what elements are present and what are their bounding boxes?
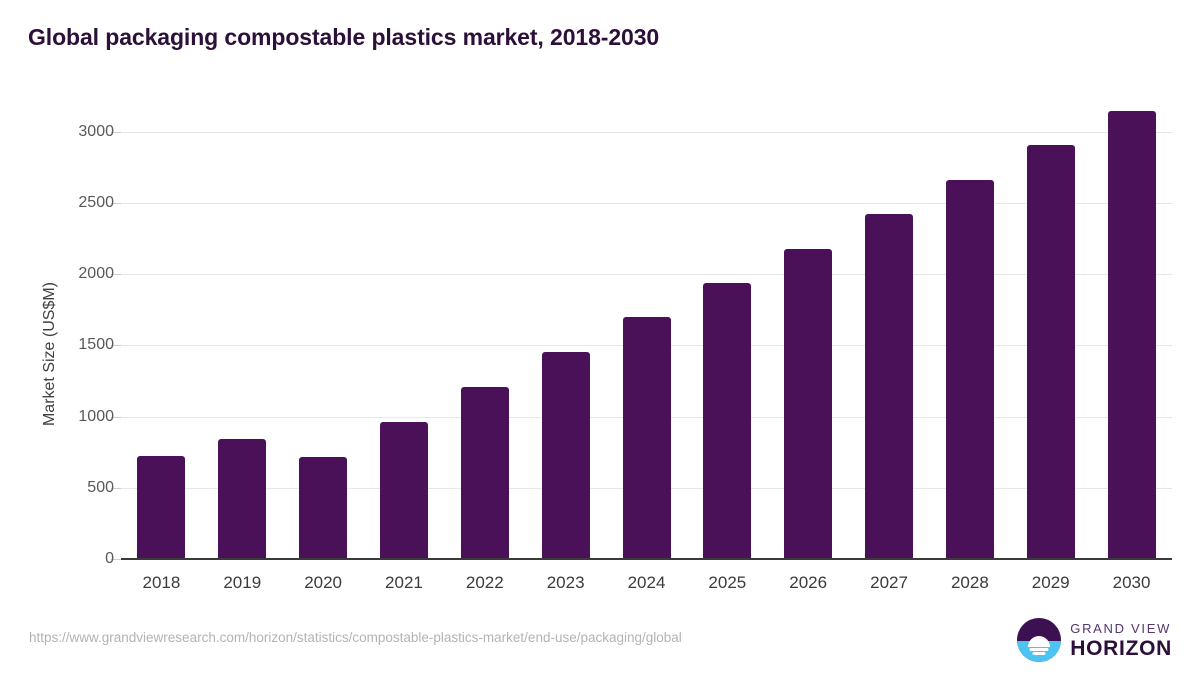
source-url[interactable]: https://www.grandviewresearch.com/horizo… [29,630,682,645]
logo-ray-1 [1030,648,1049,651]
x-tick-label-2027: 2027 [849,573,930,593]
x-tick-label-2020: 2020 [283,573,364,593]
x-tick-label-2019: 2019 [202,573,283,593]
logo-text-bottom: HORIZON [1070,638,1172,659]
x-tick-label-2023: 2023 [525,573,606,593]
logo-text: GRAND VIEW HORIZON [1070,622,1172,659]
horizon-sun-icon [1017,618,1061,662]
x-tick-label-2021: 2021 [363,573,444,593]
x-tick-label-2029: 2029 [1010,573,1091,593]
x-tick-label-2024: 2024 [606,573,687,593]
logo-dome-shape [1028,636,1050,647]
x-tick-label-2025: 2025 [687,573,768,593]
chart-plot-area: 050010001500200025003000 Market Size (US… [0,0,1200,675]
x-tick-label-2028: 2028 [929,573,1010,593]
x-tick-label-2022: 2022 [444,573,525,593]
x-axis-ticks: 2018201920202021202220232024202520262027… [0,0,1200,675]
x-tick-label-2026: 2026 [768,573,849,593]
chart-page: Global packaging compostable plastics ma… [0,0,1200,675]
logo-ray-2 [1033,652,1046,655]
x-tick-label-2018: 2018 [121,573,202,593]
logo-text-top: GRAND VIEW [1070,622,1172,635]
x-tick-label-2030: 2030 [1091,573,1172,593]
grand-view-horizon-logo: GRAND VIEW HORIZON [1017,617,1172,663]
